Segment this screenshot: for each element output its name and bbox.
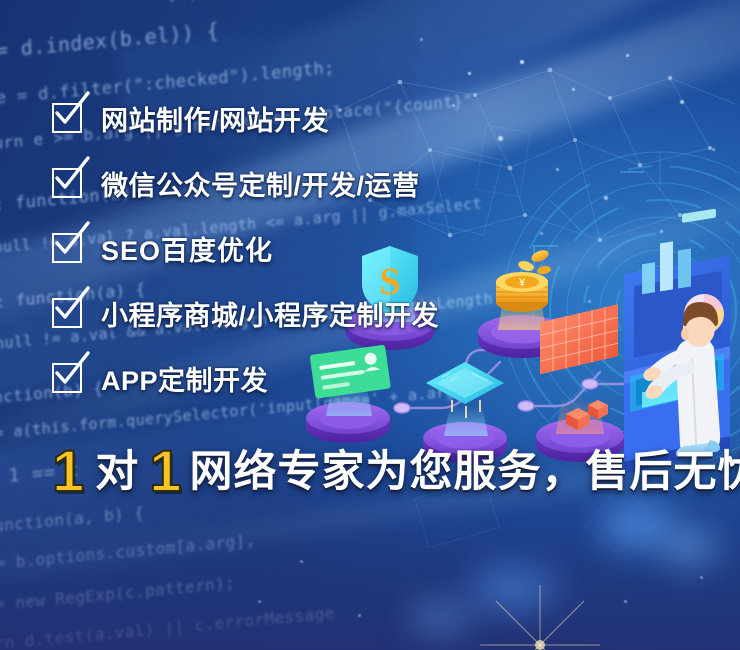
feature-label: 微信公众号定制/开发/运营 [101,164,420,203]
headline-middle-word: 对 [86,451,147,494]
background-particle [258,600,261,603]
feature-list: 网站制作/网站开发 微信公众号定制/开发/运营 SEO百度优化 [52,98,712,423]
checkbox-checked-icon[interactable] [52,298,82,328]
background-particle [358,614,361,617]
feature-item-app[interactable]: APP定制开发 [52,358,712,398]
background-glow-blob [660,527,718,567]
checkbox-checked-icon[interactable] [52,168,82,198]
code-line: = d.index(b.el)) { [0,18,219,62]
feature-label: APP定制开发 [101,359,268,398]
feature-item-website[interactable]: 网站制作/网站开发 [52,98,712,138]
promo-banner: p.querySelectorAll('input[type=checkbox]… [0,0,740,650]
background-particle [572,88,575,91]
background-particle [700,576,703,579]
checkbox-checked-icon[interactable] [52,103,82,133]
feature-item-wechat[interactable]: 微信公众号定制/开发/运营 [52,163,712,203]
background-sparkle [470,575,610,650]
feature-label: 网站制作/网站开发 [101,99,329,138]
background-particle [712,148,715,151]
background-particle [626,54,629,57]
background-particle [624,600,627,603]
headline-tail-text: 网络专家为您服务，售后无忧！ [184,451,740,494]
headline-number-second: 1 [147,443,183,501]
feature-item-seo[interactable]: SEO百度优化 [52,228,712,268]
checkbox-checked-icon[interactable] [52,233,82,263]
feature-item-miniprogram[interactable]: 小程序商城/小程序定制开发 [52,293,712,333]
background-particle [420,38,423,41]
feature-label: 小程序商城/小程序定制开发 [101,294,439,333]
checkbox-checked-icon[interactable] [52,363,82,393]
feature-label: SEO百度优化 [101,229,273,268]
promo-headline: 1 对 1 网络专家为您服务，售后无忧！ [50,443,740,501]
background-particle [520,60,524,64]
background-glow-blob [408,600,474,636]
background-particle [468,72,471,75]
headline-number-first: 1 [50,443,86,501]
background-particle [300,560,303,563]
